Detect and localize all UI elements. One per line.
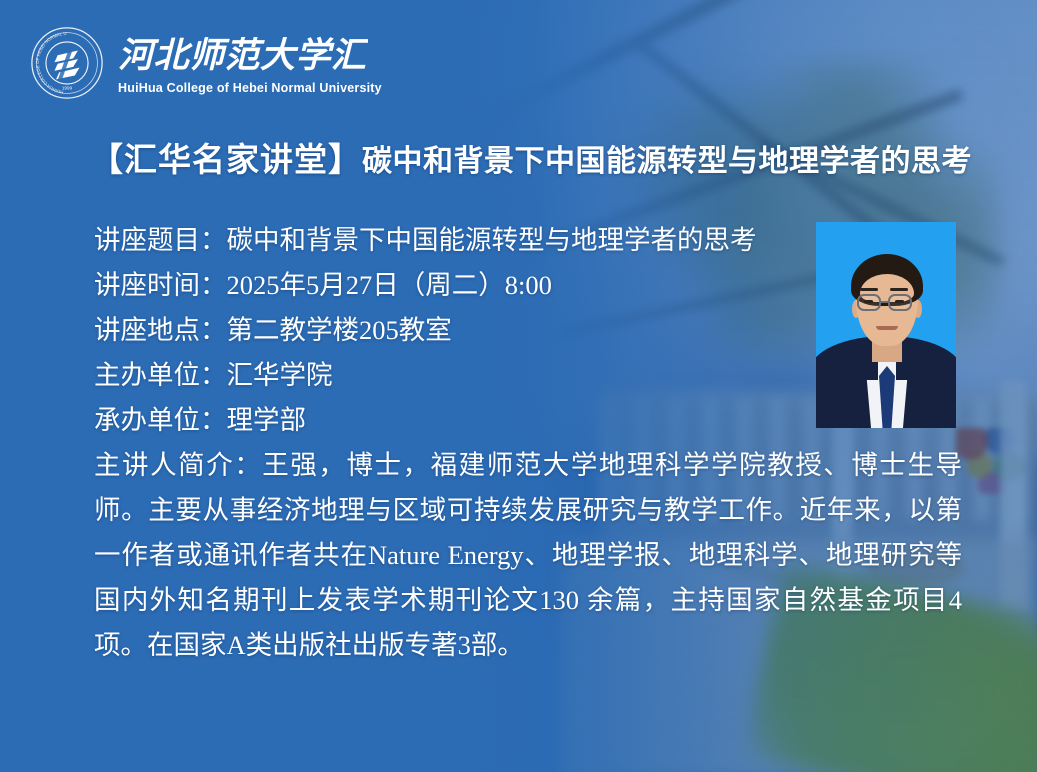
- portrait-eyebrow-right: [890, 288, 908, 291]
- title-series-label: 【汇华名家讲堂】: [90, 143, 362, 179]
- lecture-poster: 1999 HUIHUA COLLEGE OF HEBEI NORMAL UNIV…: [0, 0, 1037, 772]
- svg-text:1999: 1999: [62, 86, 73, 91]
- portrait-glasses-bridge: [881, 301, 888, 303]
- university-logo: 1999 HUIHUA COLLEGE OF HEBEI NORMAL UNIV…: [28, 24, 382, 102]
- speaker-portrait: [816, 222, 956, 428]
- portrait-eyebrow-left: [860, 288, 878, 291]
- portrait-eye-right: [895, 300, 904, 303]
- portrait-mouth: [876, 326, 898, 330]
- title-topic: 碳中和背景下中国能源转型与地理学者的思考: [362, 145, 972, 178]
- speaker-bio: 主讲人简介：王强，博士，福建师范大学地理科学学院教授、博士生导师。主要从事经济地…: [94, 443, 962, 668]
- university-name-en: HuiHua College of Hebei Normal Universit…: [118, 81, 382, 95]
- university-name-cn-text: 河北师范大学汇华学院: [118, 36, 368, 75]
- university-name-cn: 河北师范大学汇华学院: [118, 32, 368, 78]
- page-title: 【汇华名家讲堂】碳中和背景下中国能源转型与地理学者的思考: [90, 133, 990, 181]
- university-seal-icon: 1999 HUIHUA COLLEGE OF HEBEI NORMAL UNIV…: [28, 24, 106, 102]
- portrait-eye-left: [864, 300, 873, 303]
